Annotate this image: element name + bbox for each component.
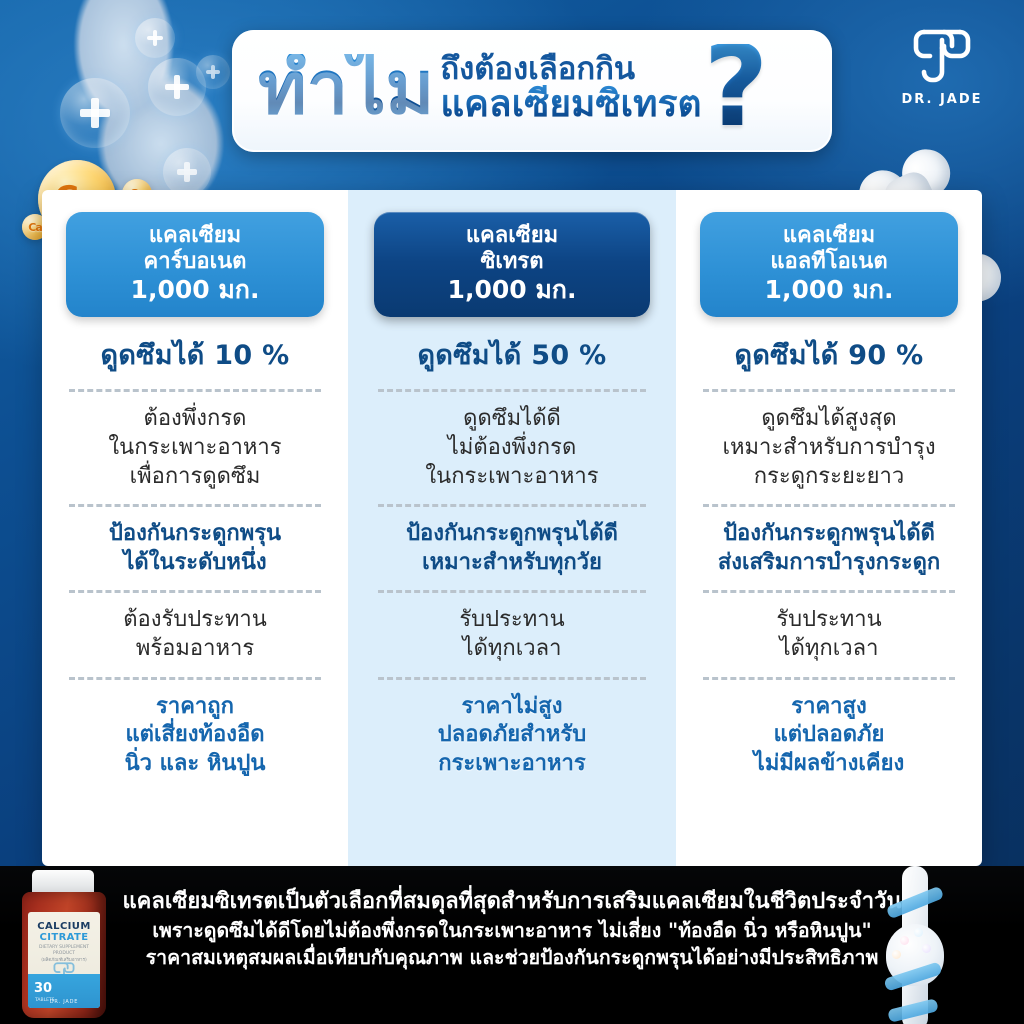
comparison-cell: ราคาสูงแต่ปลอดภัยไม่มีผลข้างเคียง [676, 680, 982, 779]
bottle-label: CALCIUM CITRATE DIETARY SUPPLEMENT PRODU… [28, 912, 100, 1008]
medical-cross-bubble-icon [148, 58, 206, 116]
comparison-cell: ป้องกันกระดูกพรุนได้ดีเหมาะสำหรับทุกวัย [348, 507, 676, 577]
column-heading-badge: แคลเซียม ซิเทรต 1,000 มก. [374, 212, 650, 317]
summary-banner: CALCIUM CITRATE DIETARY SUPPLEMENT PRODU… [0, 866, 1024, 1024]
product-label-sub: CITRATE [28, 932, 100, 943]
column-heading-line1: แคลเซียม [700, 223, 958, 249]
comparison-column-calcium-carbonate: แคลเซียม คาร์บอเนต 1,000 มก. ดูดซึมได้ 1… [42, 190, 348, 866]
comparison-column-calcium-citrate: แคลเซียม ซิเทรต 1,000 มก. ดูดซึมได้ 50 %… [348, 190, 676, 866]
question-mark-icon: ? [703, 44, 768, 131]
comparison-cell: ป้องกันกระดูกพรุนได้ในระดับหนึ่ง [42, 507, 348, 577]
infographic-poster: Ca Ca Ca Ca CALCIUM ทำไม ถึงต้องเลือกกิน… [0, 0, 1024, 1024]
column-heading-line2: แอลทีโอเนต [700, 249, 958, 275]
absorption-rate: ดูดซึมได้ 50 % [417, 333, 606, 376]
medical-cross-bubble-icon [196, 55, 230, 89]
comparison-column-calcium-l-threonate: แคลเซียม แอลทีโอเนต 1,000 มก. ดูดซึมได้ … [676, 190, 982, 866]
product-label-company: DR. JADE [28, 999, 100, 1005]
comparison-cell: ต้องพึ่งกรดในกระเพาะอาหารเพื่อการดูดซึม [42, 392, 348, 491]
column-heading-dose: 1,000 มก. [66, 275, 324, 305]
dr-jade-triskelion-logo-icon [904, 18, 980, 88]
absorption-rate: ดูดซึมได้ 10 % [100, 333, 289, 376]
column-heading-line2: ซิเทรต [374, 249, 650, 275]
title-card: ทำไม ถึงต้องเลือกกิน แคลเซียมซิเทรต ? [232, 30, 832, 152]
comparison-cell: ดูดซึมได้ดีไม่ต้องพึ่งกรดในกระเพาะอาหาร [348, 392, 676, 491]
column-heading-line1: แคลเซียม [66, 223, 324, 249]
medical-cross-bubble-icon [135, 18, 175, 58]
comparison-cell: รับประทานได้ทุกเวลา [348, 593, 676, 663]
brand-logo: DR. JADE [886, 18, 998, 107]
comparison-cell: ดูดซึมได้สูงสุดเหมาะสำหรับการบำรุงกระดูก… [676, 392, 982, 491]
page-title-line1: ถึงต้องเลือกกิน [440, 54, 701, 85]
column-heading-badge: แคลเซียม คาร์บอเนต 1,000 มก. [66, 212, 324, 317]
product-count: 30 [34, 981, 52, 996]
comparison-cell: ต้องรับประทานพร้อมอาหาร [42, 593, 348, 663]
medical-cross-bubble-icon [60, 78, 130, 148]
page-title-line2: แคลเซียมซิเทรต [440, 85, 701, 122]
column-heading-line2: คาร์บอเนต [66, 249, 324, 275]
summary-line-1: แคลเซียมซิเทรตเป็นตัวเลือกที่สมดุลที่สุด… [96, 888, 928, 917]
brand-name: DR. JADE [886, 92, 998, 107]
summary-line-3: ราคาสมเหตุสมผลเมื่อเทียบกับคุณภาพ และช่ว… [96, 944, 928, 972]
comparison-cell: รับประทานได้ทุกเวลา [676, 593, 982, 663]
absorption-rate: ดูดซึมได้ 90 % [734, 333, 923, 376]
comparison-cell: ป้องกันกระดูกพรุนได้ดีส่งเสริมการบำรุงกร… [676, 507, 982, 577]
comparison-table: แคลเซียม คาร์บอเนต 1,000 มก. ดูดซึมได้ 1… [42, 190, 982, 866]
column-heading-line1: แคลเซียม [374, 223, 650, 249]
summary-line-2: เพราะดูดซึมได้ดีโดยไม่ต้องพึ่งกรดในกระเพ… [96, 917, 928, 945]
comparison-cell: ราคาไม่สูงปลอดภัยสำหรับกระเพาะอาหาร [348, 680, 676, 779]
column-heading-dose: 1,000 มก. [700, 275, 958, 305]
comparison-cell: ราคาถูกแต่เสี่ยงท้องอืดนิ่ว และ หินปูน [42, 680, 348, 779]
column-heading-badge: แคลเซียม แอลทีโอเนต 1,000 มก. [700, 212, 958, 317]
bone-joint-ribbon-illustration [856, 866, 976, 1024]
column-heading-dose: 1,000 มก. [374, 275, 650, 305]
medical-cross-bubble-icon [163, 148, 211, 196]
page-title-main: ทำไม [258, 54, 440, 122]
product-label-brand: CALCIUM [28, 921, 100, 932]
summary-text: แคลเซียมซิเทรตเป็นตัวเลือกที่สมดุลที่สุด… [96, 888, 928, 972]
